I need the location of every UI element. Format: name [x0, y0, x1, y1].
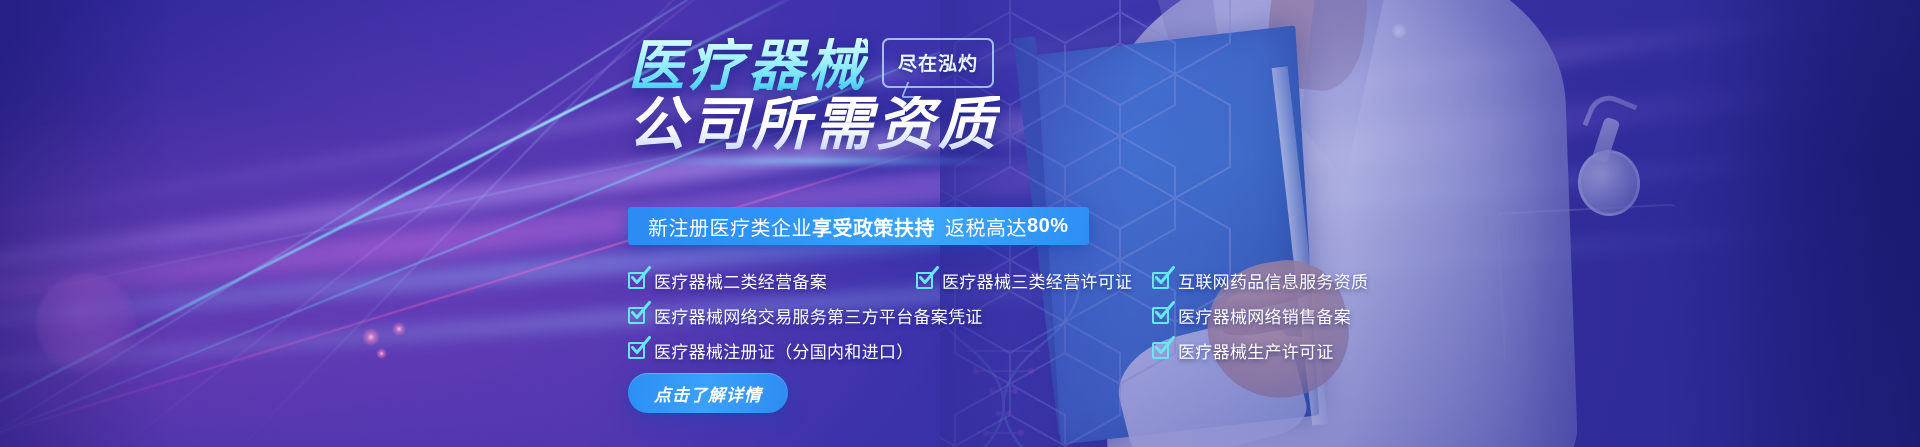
checklist-item[interactable]: 互联网药品信息服务资质	[1152, 268, 1368, 293]
checkbox-checked-icon	[628, 272, 645, 289]
bokeh-circle-purple	[36, 274, 136, 374]
checklist-row: 医疗器械网络交易服务第三方平台备案凭证 医疗器械网络销售备案	[628, 303, 1428, 325]
brand-badge: 尽在泓灼	[882, 38, 994, 88]
checklist-item-label: 互联网药品信息服务资质	[1178, 268, 1368, 293]
checkbox-checked-icon	[1152, 307, 1169, 324]
checkbox-checked-icon	[628, 307, 645, 324]
checklist-item-label: 医疗器械二类经营备案	[654, 268, 827, 293]
glow-dot-2	[392, 322, 406, 336]
checklist-item-label: 医疗器械生产许可证	[1178, 338, 1334, 363]
glow-dot-3	[376, 348, 387, 359]
subtitle-part-2: 享受政策扶持	[812, 212, 935, 241]
checklist-item-label: 医疗器械三类经营许可证	[942, 268, 1132, 293]
checklist-item-label: 医疗器械注册证（分国内和进口）	[654, 338, 914, 363]
qualification-checklist: 医疗器械二类经营备案 医疗器械三类经营许可证 互联网药品信息服务资质	[628, 268, 1428, 373]
checkbox-checked-icon	[1152, 272, 1169, 289]
banner-content: 医疗器械 尽在泓灼 公司所需资质 新注册医疗类企业享受政策扶持返税高达80% 医…	[628, 0, 1448, 447]
headline-underglow	[614, 156, 1014, 166]
subtitle-part-1: 新注册医疗类企业	[648, 212, 812, 241]
checklist-item[interactable]: 医疗器械三类经营许可证	[916, 268, 1152, 293]
glow-dot-1	[362, 328, 380, 346]
medical-device-promo-banner: 医疗器械 尽在泓灼 公司所需资质 新注册医疗类企业享受政策扶持返税高达80% 医…	[0, 0, 1920, 447]
subtitle-bar: 新注册医疗类企业享受政策扶持返税高达80%	[628, 207, 1089, 245]
checklist-item-label: 医疗器械网络销售备案	[1178, 303, 1351, 328]
checklist-row: 医疗器械二类经营备案 医疗器械三类经营许可证 互联网药品信息服务资质	[628, 268, 1428, 290]
headline-line-2: 公司所需资质	[628, 96, 1000, 154]
checkbox-checked-icon	[916, 272, 933, 289]
checklist-item[interactable]: 医疗器械生产许可证	[1152, 338, 1334, 363]
checklist-item-label: 医疗器械网络交易服务第三方平台备案凭证	[654, 303, 983, 328]
checklist-item[interactable]: 医疗器械二类经营备案	[628, 268, 916, 293]
learn-more-button[interactable]: 点击了解详情	[628, 373, 788, 413]
checklist-item[interactable]: 医疗器械网络交易服务第三方平台备案凭证	[628, 303, 1152, 328]
bokeh-circle-large	[0, 120, 200, 380]
checklist-row: 医疗器械注册证（分国内和进口） 医疗器械生产许可证	[628, 338, 1428, 360]
subtitle-part-4: 80%	[1027, 215, 1069, 238]
checkbox-checked-icon	[1152, 342, 1169, 359]
checkbox-checked-icon	[628, 342, 645, 359]
headline-line-1: 医疗器械	[628, 38, 868, 94]
subtitle-part-3: 返税高达	[945, 212, 1027, 241]
title-row: 医疗器械 尽在泓灼	[628, 38, 994, 94]
checklist-item[interactable]: 医疗器械注册证（分国内和进口）	[628, 338, 1152, 363]
checklist-item[interactable]: 医疗器械网络销售备案	[1152, 303, 1351, 328]
